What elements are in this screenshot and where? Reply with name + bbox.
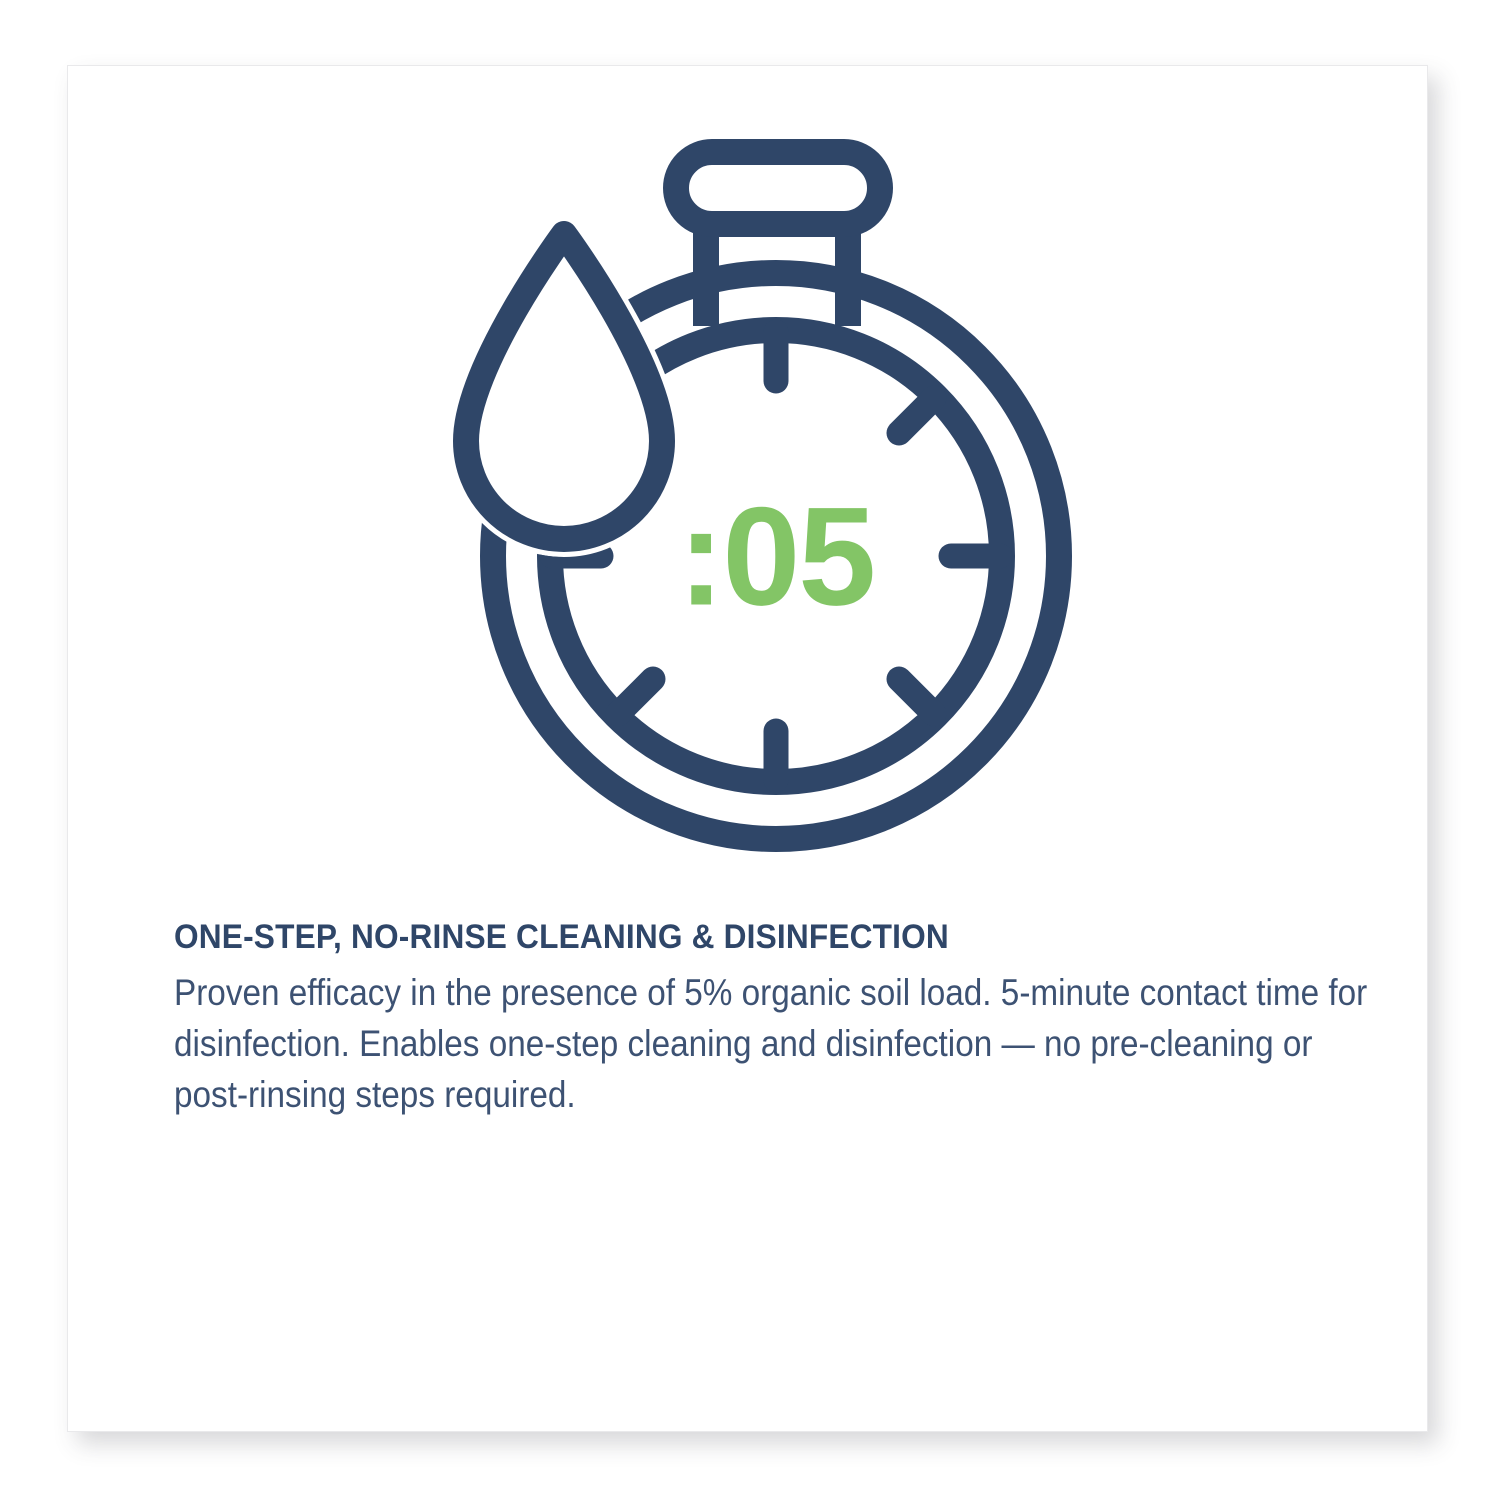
stopwatch-with-water-droplet-icon: :05 (436, 136, 1096, 856)
timer-text: :05 (678, 478, 874, 635)
screenshot-stage: :05 ONE-STEP, NO-RINSE CLEANING & DISINF… (0, 0, 1500, 1500)
feature-card: :05 ONE-STEP, NO-RINSE CLEANING & DISINF… (67, 65, 1428, 1432)
stopwatch-group: :05 (466, 152, 1059, 839)
water-droplet-icon (466, 234, 662, 539)
feature-text-block: ONE-STEP, NO-RINSE CLEANING & DISINFECTI… (174, 918, 1389, 1120)
stopwatch-crown (676, 152, 880, 224)
feature-title: ONE-STEP, NO-RINSE CLEANING & DISINFECTI… (174, 918, 1304, 957)
feature-description: Proven efficacy in the presence of 5% or… (174, 967, 1385, 1120)
